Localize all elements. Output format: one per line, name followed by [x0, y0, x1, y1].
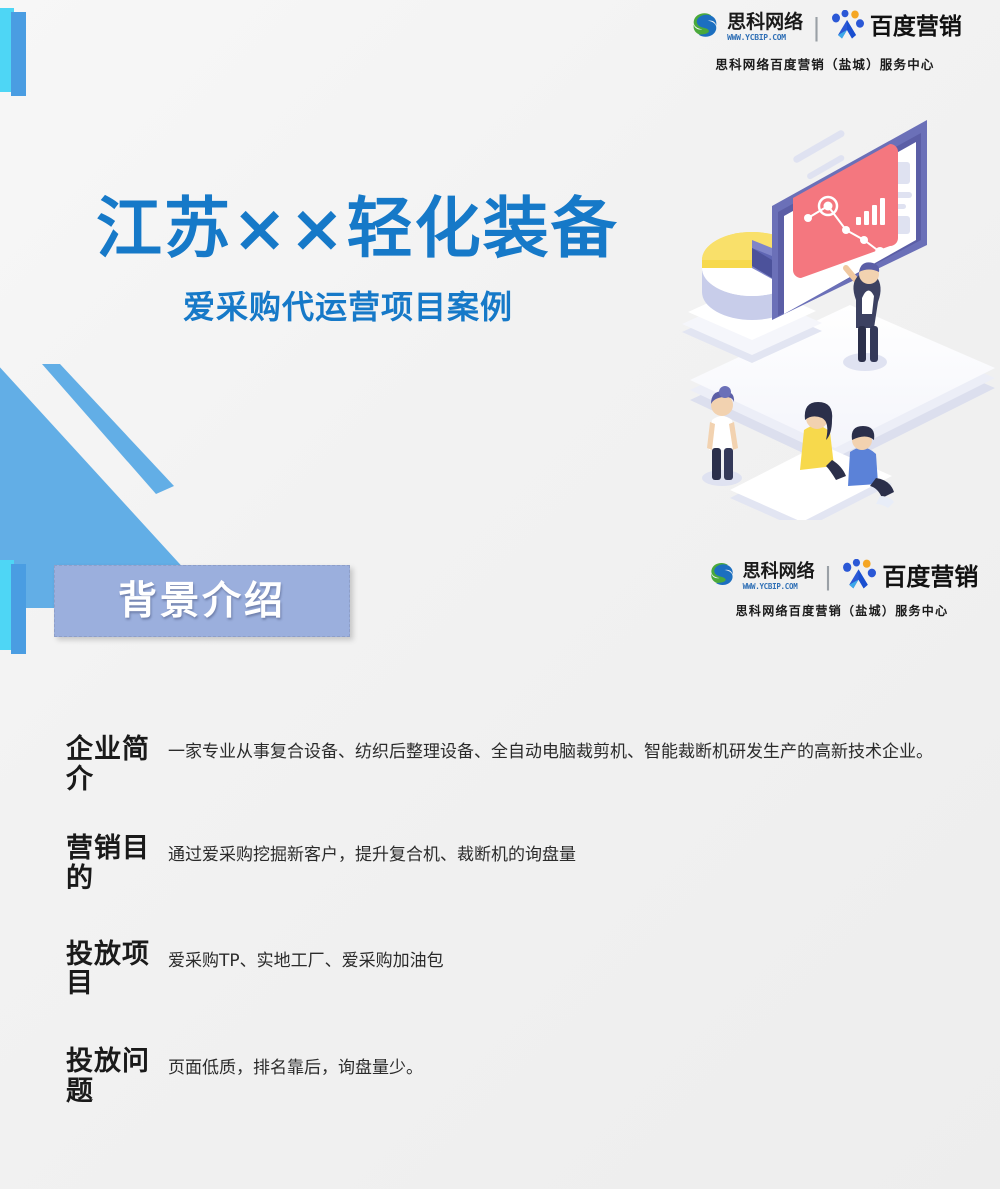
service-center-label: 思科网络百度营销（盐城）服务中心	[715, 54, 934, 73]
sike-logo: 思科网络 WWW.YCBIP.COM	[688, 8, 803, 47]
hero-illustration	[680, 100, 1000, 520]
sike-logo: 思科网络 WWW.YCBIP.COM	[706, 558, 815, 595]
sike-wordmark: 思科网络 WWW.YCBIP.COM	[727, 13, 803, 42]
sike-name: 思科网络	[743, 563, 815, 581]
presentation-screen	[772, 120, 927, 320]
brand-divider: |	[825, 561, 832, 592]
case-study-page: 思科网络 WWW.YCBIP.COM |	[0, 0, 1000, 1189]
sike-name: 思科网络	[727, 13, 803, 32]
sike-swirl-icon	[688, 8, 722, 47]
baidu-paw-icon	[841, 559, 876, 595]
sike-wordmark: 思科网络 WWW.YCBIP.COM	[743, 563, 815, 591]
brand-divider: |	[813, 12, 820, 43]
row-label: 投放问题	[0, 1047, 168, 1106]
content-row: 企业简介 一家专业从事复合设备、纺织后整理设备、全自动电脑裁剪机、智能裁断机研发…	[0, 735, 1000, 794]
row-text: 一家专业从事复合设备、纺织后整理设备、全自动电脑裁剪机、智能裁断机研发生产的高新…	[168, 739, 1000, 765]
decor-bar-blue	[11, 12, 26, 96]
content-row: 营销目的 通过爱采购挖掘新客户，提升复合机、裁断机的询盘量	[0, 834, 1000, 893]
sike-swirl-icon	[706, 558, 738, 595]
row-text: 通过爱采购挖掘新客户，提升复合机、裁断机的询盘量	[168, 842, 1000, 868]
service-center-label: 思科网络百度营销（盐城）服务中心	[736, 602, 949, 619]
content-rows: 企业简介 一家专业从事复合设备、纺织后整理设备、全自动电脑裁剪机、智能裁断机研发…	[0, 735, 1000, 1107]
sike-url: WWW.YCBIP.COM	[727, 34, 803, 42]
brand-lockup-section: 思科网络 WWW.YCBIP.COM |	[692, 558, 992, 619]
brand-logo-row: 思科网络 WWW.YCBIP.COM |	[688, 8, 962, 47]
row-label: 投放项目	[0, 940, 168, 999]
row-label: 企业简介	[0, 735, 168, 794]
decor-bar-blue	[11, 564, 26, 654]
baidu-logo: 百度营销	[830, 10, 962, 45]
page-title: 江苏××轻化装备	[96, 196, 619, 262]
baidu-name: 百度营销	[870, 16, 962, 39]
row-text: 爱采购TP、实地工厂、爱采购加油包	[168, 948, 1000, 974]
baidu-name: 百度营销	[882, 565, 978, 589]
page-subtitle: 爱采购代运营项目案例	[183, 291, 513, 323]
baidu-paw-icon	[830, 10, 864, 45]
decor-bars-bottom	[0, 560, 30, 650]
content-row: 投放项目 爱采购TP、实地工厂、爱采购加油包	[0, 940, 1000, 999]
decor-bars-top	[0, 8, 30, 92]
row-label: 营销目的	[0, 834, 168, 893]
sike-url: WWW.YCBIP.COM	[743, 583, 815, 591]
brand-logo-row: 思科网络 WWW.YCBIP.COM |	[706, 558, 979, 595]
section-header-label: 背景介绍	[118, 582, 286, 621]
row-text: 页面低质，排名靠后，询盘量少。	[168, 1055, 1000, 1081]
brand-lockup-header: 思科网络 WWW.YCBIP.COM |	[660, 8, 990, 73]
baidu-logo: 百度营销	[841, 559, 978, 595]
section-header-background-intro: 背景介绍	[54, 565, 350, 637]
content-row: 投放问题 页面低质，排名靠后，询盘量少。	[0, 1047, 1000, 1106]
